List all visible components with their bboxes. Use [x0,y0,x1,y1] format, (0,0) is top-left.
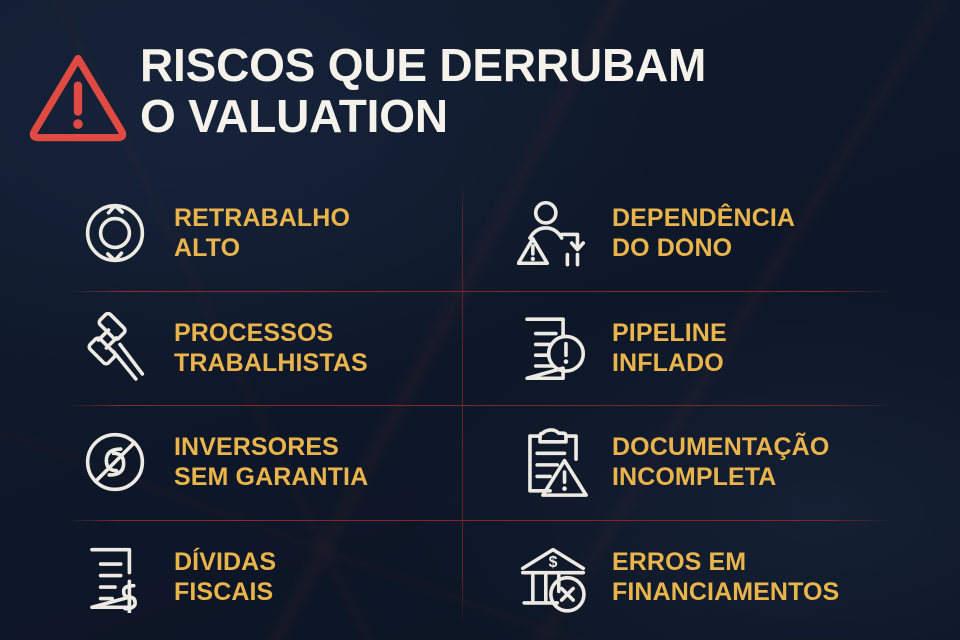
label-line-2: FISCAIS [174,577,276,607]
risk-item-dependencia-do-dono: DEPENDÊNCIA DO DONO [480,176,888,291]
risk-item-erros-em-financiamentos: $ ERROS EM FINANCIAMENTOS [480,520,888,635]
label-line-1: DÍVIDAS [174,548,276,576]
risk-item-retrabalho-alto: RETRABALHO ALTO [72,176,480,291]
risk-item-inversores-sem-garantia: INVERSORES SEM GARANTIA [72,405,480,520]
no-guarantee-crossed-circle-icon [72,426,158,498]
clipboard-warning-icon [510,426,596,498]
label-line-2: DO DONO [612,233,795,263]
risk-item-label: PIPELINE INFLADO [612,318,727,378]
grid-row: INVERSORES SEM GARANTIA [72,405,888,520]
label-line-1: DOCUMENTAÇÃO [612,433,829,461]
risk-item-label: DÍVIDAS FISCAIS [174,547,276,607]
grid-row: PROCESSOS TRABALHISTAS [72,291,888,406]
svg-text:$: $ [549,554,558,571]
label-line-2: ALTO [174,233,350,263]
infographic-poster: RISCOS QUE DERRUBAM O VALUATION [0,0,960,640]
risk-item-label: DEPENDÊNCIA DO DONO [612,203,795,263]
owner-dependency-person-warning-icon [510,197,596,269]
poster-header: RISCOS QUE DERRUBAM O VALUATION [26,38,706,148]
risk-item-dividas-fiscais: DÍVIDAS FISCAIS [72,520,480,635]
risk-item-label: DOCUMENTAÇÃO INCOMPLETA [612,432,829,492]
risk-item-label: PROCESSOS TRABALHISTAS [174,318,368,378]
label-line-1: RETRABALHO [174,204,350,232]
label-line-1: ERROS EM [612,548,746,576]
risk-item-documentacao-incompleta: DOCUMENTAÇÃO INCOMPLETA [480,405,888,520]
label-line-1: DEPENDÊNCIA [612,204,795,232]
title-line-1: RISCOS QUE DERRUBAM [140,40,706,91]
grid-row: DÍVIDAS FISCAIS $ [72,520,888,635]
rework-cycle-icon [72,197,158,269]
warning-triangle-icon [26,44,130,148]
title-line-2: O VALUATION [140,91,706,142]
gavel-icon [72,312,158,384]
label-line-1: PROCESSOS [174,319,333,347]
label-line-1: INVERSORES [174,433,339,461]
risk-item-pipeline-inflado: PIPELINE INFLADO [480,291,888,406]
label-line-2: FINANCIAMENTOS [612,577,839,607]
risk-item-label: ERROS EM FINANCIAMENTOS [612,547,839,607]
label-line-2: TRABALHISTAS [174,348,368,378]
risk-item-label: INVERSORES SEM GARANTIA [174,432,368,492]
risk-item-processos-trabalhistas: PROCESSOS TRABALHISTAS [72,291,480,406]
label-line-1: PIPELINE [612,319,727,347]
risk-items-grid: RETRABALHO ALTO [72,176,888,626]
risk-item-label: RETRABALHO ALTO [174,203,350,263]
label-line-2: SEM GARANTIA [174,462,368,492]
label-line-2: INFLADO [612,348,727,378]
invoice-dollar-icon [72,541,158,613]
label-line-2: INCOMPLETA [612,462,829,492]
bank-error-icon: $ [510,541,596,613]
poster-title: RISCOS QUE DERRUBAM O VALUATION [140,40,706,142]
document-alert-icon [510,312,596,384]
grid-row: RETRABALHO ALTO [72,176,888,291]
